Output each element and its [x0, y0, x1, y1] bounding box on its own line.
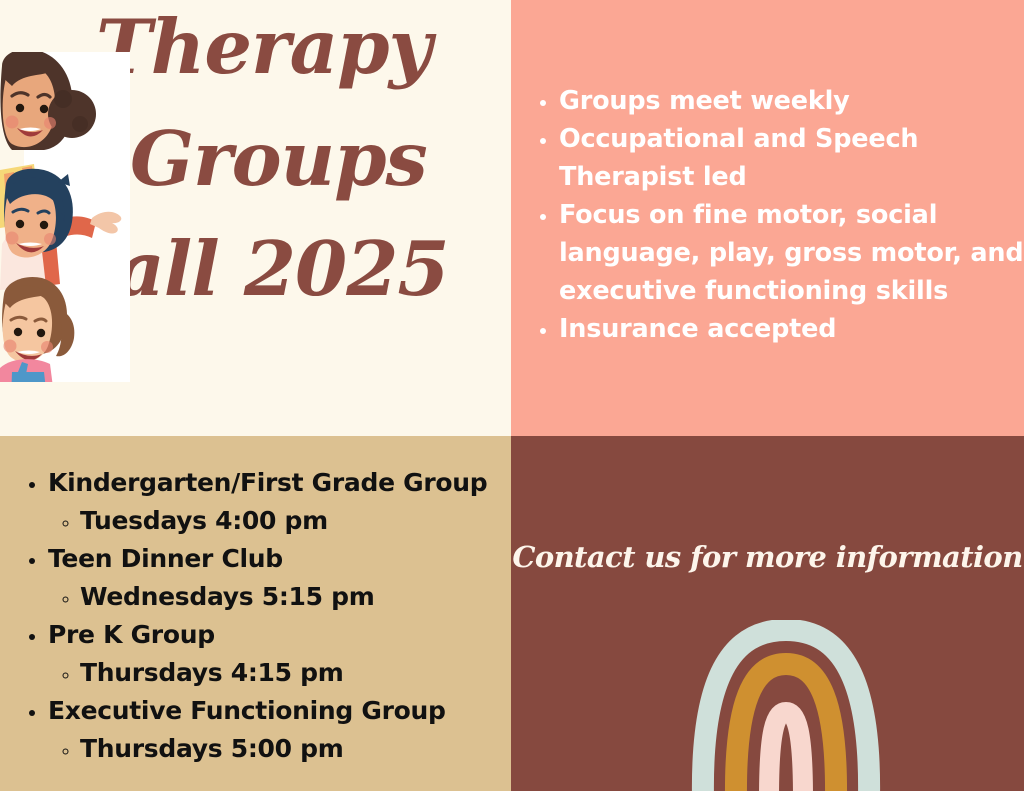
group-name: Pre K Group	[48, 620, 215, 649]
group-time: Tuesdays 4:00 pm	[80, 502, 511, 540]
list-item: Occupational and Speech Therapist led	[559, 120, 1024, 196]
group-time-list: Thursdays 5:00 pm	[48, 730, 511, 768]
group-name: Executive Functioning Group	[48, 696, 446, 725]
features-list: Groups meet weekly Occupational and Spee…	[531, 82, 1024, 348]
schedule-panel: Kindergarten/First Grade Group Tuesdays …	[0, 436, 511, 791]
list-item: Focus on fine motor, social language, pl…	[559, 196, 1024, 310]
group-time-list: Wednesdays 5:15 pm	[48, 578, 511, 616]
group-time: Wednesdays 5:15 pm	[80, 578, 511, 616]
group-time: Thursdays 4:15 pm	[80, 654, 511, 692]
schedule-list: Kindergarten/First Grade Group Tuesdays …	[18, 464, 511, 768]
group-name: Kindergarten/First Grade Group	[48, 468, 487, 497]
list-item: Executive Functioning Group Thursdays 5:…	[48, 692, 511, 768]
poster-canvas: Therapy Groups Fall 2025	[0, 0, 1024, 791]
list-item: Teen Dinner Club Wednesdays 5:15 pm	[48, 540, 511, 616]
group-time: Thursdays 5:00 pm	[80, 730, 511, 768]
contact-panel: Contact us for more information	[511, 436, 1024, 791]
list-item: Groups meet weekly	[559, 82, 1024, 120]
three-smiling-children-illustration	[0, 52, 130, 382]
group-name: Teen Dinner Club	[48, 544, 283, 573]
features-panel: Groups meet weekly Occupational and Spee…	[511, 0, 1024, 436]
group-time-list: Thursdays 4:15 pm	[48, 654, 511, 692]
group-time-list: Tuesdays 4:00 pm	[48, 502, 511, 540]
list-item: Pre K Group Thursdays 4:15 pm	[48, 616, 511, 692]
list-item: Insurance accepted	[559, 310, 1024, 348]
title-panel: Therapy Groups Fall 2025	[0, 0, 511, 436]
contact-heading: Contact us for more information	[511, 540, 1024, 574]
rainbow-icon	[691, 620, 881, 791]
title-line-groups: Groups	[130, 122, 427, 197]
list-item: Kindergarten/First Grade Group Tuesdays …	[48, 464, 511, 540]
title-line-therapy: Therapy	[96, 10, 431, 85]
